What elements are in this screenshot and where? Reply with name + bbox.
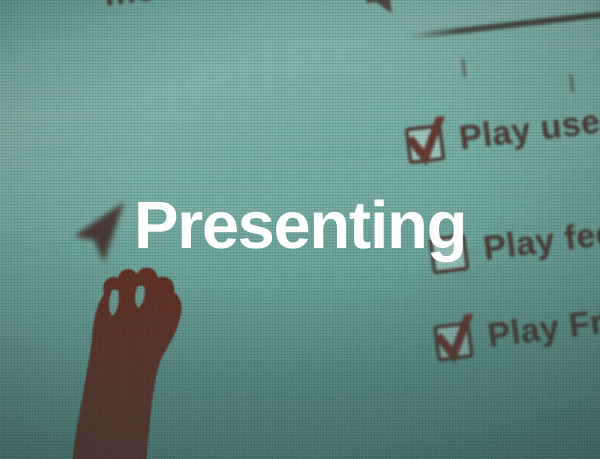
caption-presenting: Presenting [0, 192, 600, 259]
projected-slide-photo: me: ugh: Play user in Play feedb [0, 0, 600, 459]
screen-bottom-shading [0, 266, 600, 459]
